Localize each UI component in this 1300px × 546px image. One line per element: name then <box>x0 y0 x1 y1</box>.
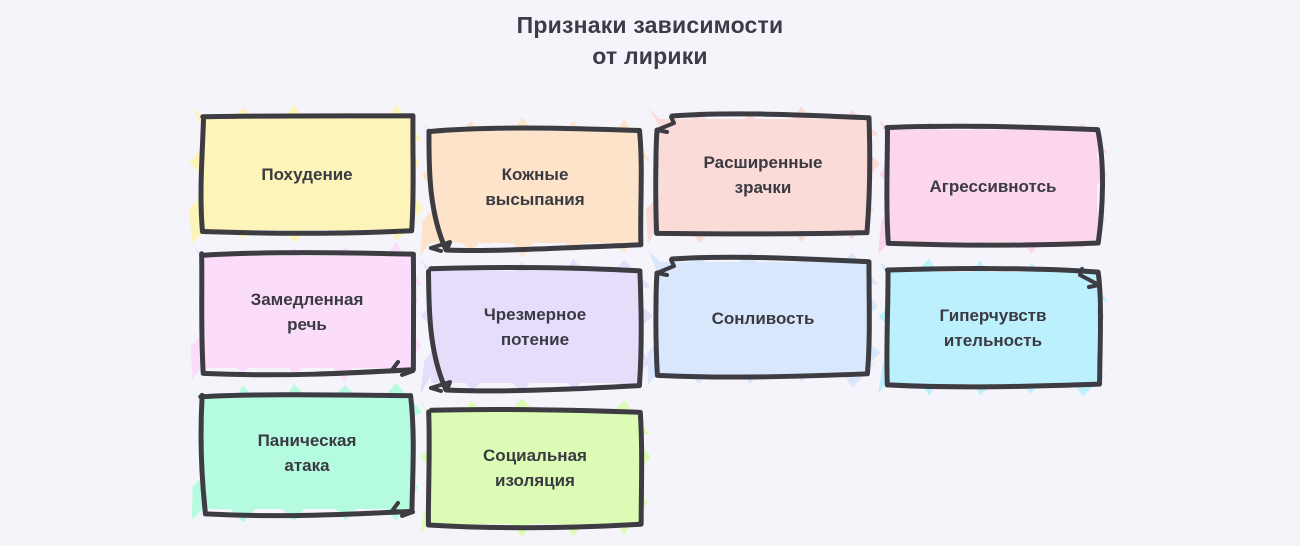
page-title: Признаки зависимости от лирики <box>0 10 1300 72</box>
card-shape <box>202 255 412 369</box>
card-fill-core <box>889 272 1097 384</box>
card-fill-core <box>659 119 867 231</box>
card-shape <box>658 118 868 232</box>
card-fill-core <box>889 130 1097 242</box>
card-fill-core <box>659 262 867 374</box>
card-shape <box>888 271 1098 385</box>
card-fill-core <box>203 118 411 230</box>
card-corner-curl-icon <box>431 242 450 251</box>
card-shape <box>430 411 640 525</box>
card-agressivnotsy[interactable]: Агрессивнотсь <box>888 129 1098 243</box>
card-corner-curl-icon <box>431 382 450 391</box>
card-shape <box>888 129 1098 243</box>
card-shape <box>430 270 640 384</box>
card-shape <box>202 117 412 231</box>
card-rasshirennye-zrachki[interactable]: Расширенные зрачки <box>658 118 868 232</box>
card-fill-core <box>203 256 411 368</box>
card-socialnaya-izolyaciya[interactable]: Социальная изоляция <box>430 411 640 525</box>
card-fill-core <box>431 271 639 383</box>
card-sonlivost[interactable]: Сонливость <box>658 261 868 375</box>
card-shape <box>430 130 640 244</box>
card-shape <box>658 261 868 375</box>
card-fill-core <box>431 412 639 524</box>
card-pohudenie[interactable]: Похудение <box>202 117 412 231</box>
card-giperchuvstvitelnost[interactable]: Гиперчувств ительность <box>888 271 1098 385</box>
card-chrezmernoe-potenie[interactable]: Чрезмерное потение <box>430 270 640 384</box>
card-fill-core <box>203 397 411 509</box>
card-zamedlennaya-rech[interactable]: Замедленная речь <box>202 255 412 369</box>
mindmap-board: Признаки зависимости от лирики Похудение… <box>0 0 1300 546</box>
card-panicheskaya-ataka[interactable]: Паническая атака <box>202 396 412 510</box>
card-kozhnye-vysypaniya[interactable]: Кожные высыпания <box>430 130 640 244</box>
card-shape <box>202 396 412 510</box>
card-fill-core <box>431 131 639 243</box>
